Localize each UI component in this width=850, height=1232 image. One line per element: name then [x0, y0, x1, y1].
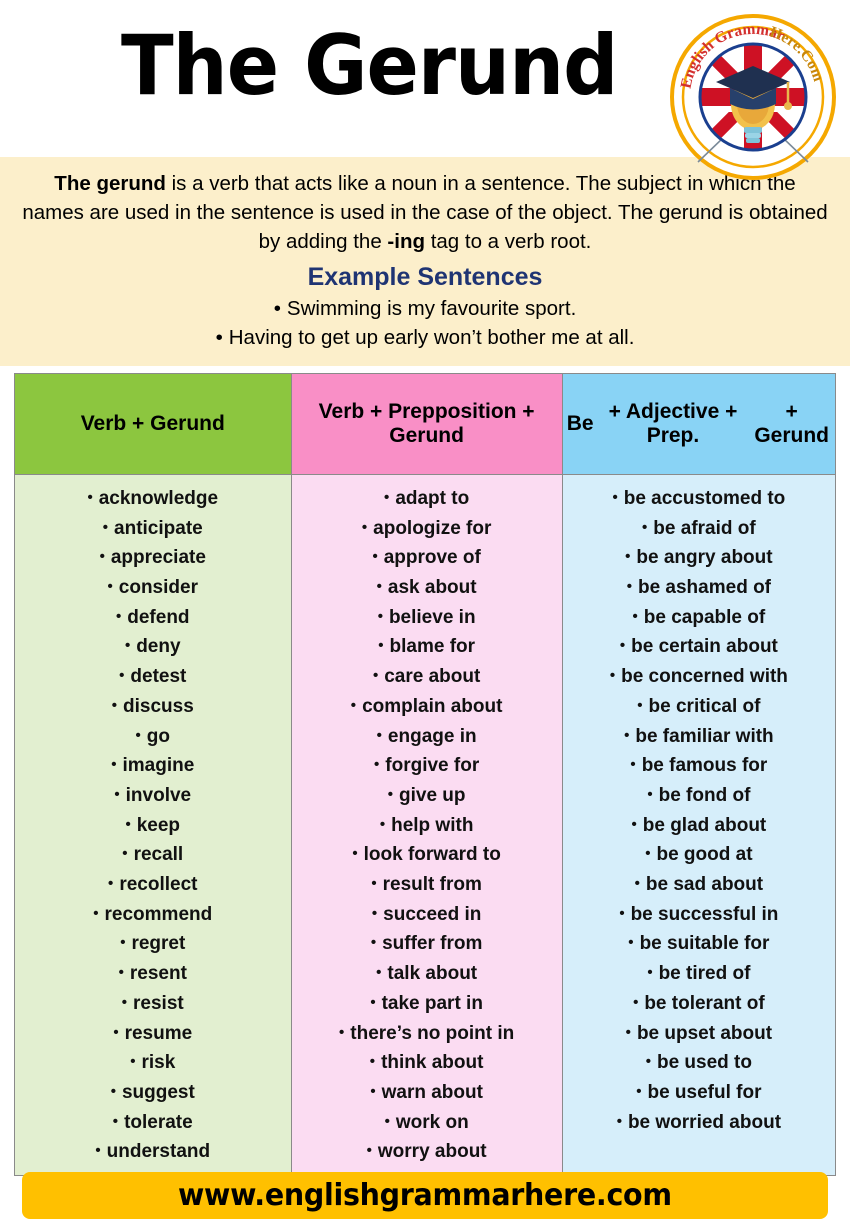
bullet-icon: • [378, 637, 383, 654]
definition-tail: tag to a verb root. [425, 230, 591, 253]
bullet-icon: • [377, 727, 382, 744]
list-item-label: be concerned with [621, 666, 788, 687]
website-footer-bar[interactable]: www.englishgrammarhere.com [22, 1172, 828, 1219]
gerund-table: Verb + Gerund •acknowledge•anticipate•ap… [14, 373, 836, 1176]
bullet-icon: • [633, 608, 638, 625]
list-item: •acknowledge [19, 484, 287, 514]
example-sentence: •Having to get up early won’t bother me … [16, 324, 834, 352]
bullet-icon: • [630, 756, 635, 773]
english-grammar-here-logo: English Grammar Here.Com [668, 12, 838, 182]
bullet-icon: • [384, 489, 389, 506]
list-item-label: be ashamed of [638, 577, 771, 598]
list-item-label: care about [384, 666, 480, 687]
bullet-icon: • [378, 608, 383, 625]
bullet-icon: • [635, 875, 640, 892]
list-item: •be afraid of [567, 514, 831, 544]
list-item: •be tolerant of [567, 989, 831, 1019]
bullet-icon: • [122, 845, 127, 862]
list-item-label: be critical of [649, 696, 761, 717]
table-column-verb-gerund: Verb + Gerund •acknowledge•anticipate•ap… [15, 374, 291, 1175]
list-item-label: warn about [382, 1082, 483, 1103]
bullet-icon: • [385, 1113, 390, 1130]
list-item-label: resent [130, 963, 187, 984]
list-item: •approve of [296, 543, 558, 573]
list-item-label: be tolerant of [644, 993, 764, 1014]
bullet-icon: • [619, 905, 624, 922]
list-item-label: be accustomed to [624, 488, 786, 509]
list-item-label: be tired of [659, 963, 751, 984]
bullet-icon: • [100, 548, 105, 565]
list-item: •understand [19, 1137, 287, 1167]
list-item: •believe in [296, 603, 558, 633]
bullet-icon: • [372, 548, 377, 565]
bullet-icon: • [114, 786, 119, 803]
list-item-label: imagine [122, 755, 194, 776]
bullet-icon: • [612, 489, 617, 506]
list-item: •complain about [296, 692, 558, 722]
bullet-icon: • [370, 1083, 375, 1100]
list-item: •take part in [296, 989, 558, 1019]
list-item: •be successful in [567, 900, 831, 930]
column-body: •acknowledge•anticipate•appreciate•consi… [15, 475, 291, 1175]
list-item-label: suffer from [382, 933, 482, 954]
list-item-label: believe in [389, 607, 476, 628]
list-item-label: discuss [123, 696, 194, 717]
list-item-label: be fond of [659, 785, 751, 806]
list-item: •defend [19, 603, 287, 633]
example-sentence: •Swimming is my favourite sport. [16, 295, 834, 323]
list-item-label: be certain about [631, 636, 778, 657]
list-item-label: blame for [390, 636, 476, 657]
list-item-label: defend [127, 607, 189, 628]
bullet-icon: • [645, 845, 650, 862]
bullet-icon: • [631, 816, 636, 833]
list-item: •adapt to [296, 484, 558, 514]
list-item: •talk about [296, 959, 558, 989]
list-item: •resent [19, 959, 287, 989]
bullet-icon: • [351, 697, 356, 714]
list-item: •there’s no point in [296, 1019, 558, 1049]
list-item-label: be worried about [628, 1112, 781, 1133]
list-item: •be used to [567, 1048, 831, 1078]
list-item: •apologize for [296, 514, 558, 544]
list-item-label: take part in [382, 993, 483, 1014]
bullet-icon: • [373, 667, 378, 684]
bullet-icon: • [119, 667, 124, 684]
examples-heading: Example Sentences [16, 263, 834, 292]
bullet-icon: • [371, 875, 376, 892]
list-item-label: consider [119, 577, 198, 598]
column-header: Verb + Prepposition + Gerund [292, 374, 562, 475]
list-item-label: be familiar with [635, 726, 773, 747]
list-item: •be fond of [567, 781, 831, 811]
bullet-icon: • [87, 489, 92, 506]
list-item: •work on [296, 1108, 558, 1138]
list-item: •help with [296, 811, 558, 841]
list-item: •be upset about [567, 1019, 831, 1049]
bullet-icon: • [637, 697, 642, 714]
list-item: •be accustomed to [567, 484, 831, 514]
list-item: •involve [19, 781, 287, 811]
list-item-label: recollect [119, 874, 197, 895]
list-item-label: resist [133, 993, 184, 1014]
list-item-label: engage in [388, 726, 477, 747]
list-item: •be good at [567, 840, 831, 870]
list-item: •be angry about [567, 543, 831, 573]
list-item-label: apologize for [373, 518, 491, 539]
list-item-label: help with [391, 815, 473, 836]
bullet-icon: • [620, 637, 625, 654]
bullet-icon: • [339, 1024, 344, 1041]
bullet-icon: • [627, 578, 632, 595]
list-item: •be familiar with [567, 722, 831, 752]
list-item: •suffer from [296, 929, 558, 959]
list-item: •be critical of [567, 692, 831, 722]
list-item: •be sad about [567, 870, 831, 900]
column-body: •be accustomed to•be afraid of•be angry … [563, 475, 835, 1175]
bullet-icon: • [380, 816, 385, 833]
list-item: •ask about [296, 573, 558, 603]
column-header-line: Be [567, 412, 594, 436]
list-item: •be useful for [567, 1078, 831, 1108]
bullet-icon: • [352, 845, 357, 862]
bullet-icon: • [93, 905, 98, 922]
ing-suffix: -ing [387, 230, 425, 253]
list-item-label: recall [134, 844, 184, 865]
bullet-icon: • [374, 756, 379, 773]
list-item-label: go [147, 726, 170, 747]
bullet-icon: • [125, 637, 130, 654]
list-item-label: be successful in [631, 904, 779, 925]
list-item-label: be used to [657, 1052, 752, 1073]
list-item-label: be good at [656, 844, 752, 865]
list-item: •be glad about [567, 811, 831, 841]
list-item-label: keep [137, 815, 180, 836]
list-item: •deny [19, 632, 287, 662]
bullet-icon: • [130, 1053, 135, 1070]
list-item: •care about [296, 662, 558, 692]
list-item-label: be useful for [647, 1082, 761, 1103]
page-header: The Gerund [0, 0, 850, 157]
bullet-icon: • [95, 1142, 100, 1159]
list-item-label: there’s no point in [350, 1023, 514, 1044]
bullet-icon: • [617, 1113, 622, 1130]
list-item-label: result from [383, 874, 482, 895]
list-item-label: involve [126, 785, 191, 806]
bullet-icon: • [108, 875, 113, 892]
definition-lead: The gerund [54, 172, 166, 195]
bullet-icon: • [633, 994, 638, 1011]
bullet-icon: • [111, 1083, 116, 1100]
list-item: •detest [19, 662, 287, 692]
list-item-label: talk about [387, 963, 477, 984]
table-column-verb-preposition-gerund: Verb + Prepposition + Gerund •adapt to•a… [291, 374, 563, 1175]
list-item: •be suitable for [567, 929, 831, 959]
bullet-icon: • [647, 786, 652, 803]
list-item-label: be famous for [642, 755, 768, 776]
bullet-icon: • [610, 667, 615, 684]
intro-panel: The gerund is a verb that acts like a no… [0, 157, 850, 366]
list-item-label: forgive for [385, 755, 479, 776]
website-url: www.englishgrammarhere.com [178, 1178, 672, 1213]
list-item: •appreciate [19, 543, 287, 573]
bullet-icon: • [122, 994, 127, 1011]
list-item: •resist [19, 989, 287, 1019]
list-item: •recollect [19, 870, 287, 900]
column-header-line: + Adjective + Prep. [594, 400, 753, 448]
list-item-label: regret [131, 933, 185, 954]
list-item: •think about [296, 1048, 558, 1078]
list-item: •be tired of [567, 959, 831, 989]
list-item: •keep [19, 811, 287, 841]
bullet-icon: • [113, 1113, 118, 1130]
bullet-icon: • [274, 297, 281, 320]
example-sentence-text: Swimming is my favourite sport. [287, 297, 576, 320]
list-item-label: be angry about [636, 547, 772, 568]
list-item: •resume [19, 1019, 287, 1049]
column-body: •adapt to•apologize for•approve of•ask a… [292, 475, 562, 1175]
list-item-label: be sad about [646, 874, 763, 895]
bullet-icon: • [388, 786, 393, 803]
list-item-label: give up [399, 785, 466, 806]
list-item: •succeed in [296, 900, 558, 930]
list-item: •be ashamed of [567, 573, 831, 603]
bullet-icon: • [370, 994, 375, 1011]
list-item-label: recommend [105, 904, 213, 925]
bullet-icon: • [136, 727, 141, 744]
list-item-label: adapt to [395, 488, 469, 509]
list-item: •regret [19, 929, 287, 959]
list-item: •worry about [296, 1137, 558, 1167]
list-item-label: be glad about [643, 815, 767, 836]
list-item: •forgive for [296, 751, 558, 781]
list-item: •be concerned with [567, 662, 831, 692]
bullet-icon: • [626, 1024, 631, 1041]
bullet-icon: • [646, 1053, 651, 1070]
bullet-icon: • [647, 964, 652, 981]
bullet-icon: • [111, 756, 116, 773]
list-item-label: be upset about [637, 1023, 772, 1044]
column-header-line: + Gerund [752, 400, 831, 448]
bullet-icon: • [376, 964, 381, 981]
list-item: •suggest [19, 1078, 287, 1108]
list-item: •consider [19, 573, 287, 603]
bullet-icon: • [362, 519, 367, 536]
list-item: •give up [296, 781, 558, 811]
bullet-icon: • [370, 1053, 375, 1070]
list-item: •look forward to [296, 840, 558, 870]
list-item-label: anticipate [114, 518, 203, 539]
column-header: Be+ Adjective + Prep.+ Gerund [563, 374, 835, 475]
list-item: •be famous for [567, 751, 831, 781]
list-item: •imagine [19, 751, 287, 781]
list-item: •be worried about [567, 1108, 831, 1138]
list-item: •tolerate [19, 1108, 287, 1138]
list-item: •recommend [19, 900, 287, 930]
column-header: Verb + Gerund [15, 374, 291, 475]
bullet-icon: • [642, 519, 647, 536]
list-item: •warn about [296, 1078, 558, 1108]
list-item: •blame for [296, 632, 558, 662]
list-item-label: think about [381, 1052, 483, 1073]
list-item: •be capable of [567, 603, 831, 633]
bullet-icon: • [119, 964, 124, 981]
list-item: •anticipate [19, 514, 287, 544]
bullet-icon: • [628, 934, 633, 951]
bullet-icon: • [372, 905, 377, 922]
bullet-icon: • [636, 1083, 641, 1100]
list-item-label: complain about [362, 696, 502, 717]
list-item: •discuss [19, 692, 287, 722]
list-item-label: be capable of [644, 607, 765, 628]
example-sentence-text: Having to get up early won’t bother me a… [229, 326, 635, 349]
bullet-icon: • [377, 578, 382, 595]
list-item-label: resume [125, 1023, 193, 1044]
bullet-icon: • [625, 548, 630, 565]
bullet-icon: • [113, 1024, 118, 1041]
column-header-line: Verb + Prepposition + Gerund [296, 400, 558, 448]
table-column-be-adjective-prep-gerund: Be+ Adjective + Prep.+ Gerund •be accust… [563, 374, 835, 1175]
list-item-label: detest [130, 666, 186, 687]
list-item: •go [19, 722, 287, 752]
bullet-icon: • [120, 934, 125, 951]
bullet-icon: • [108, 578, 113, 595]
list-item-label: be suitable for [640, 933, 770, 954]
list-item-label: risk [141, 1052, 175, 1073]
list-item: •result from [296, 870, 558, 900]
list-item-label: be afraid of [653, 518, 755, 539]
bullet-icon: • [371, 934, 376, 951]
bullet-icon: • [112, 697, 117, 714]
list-item-label: acknowledge [99, 488, 218, 509]
list-item: •be certain about [567, 632, 831, 662]
list-item-label: succeed in [383, 904, 481, 925]
list-item-label: worry about [378, 1141, 487, 1162]
bullet-icon: • [624, 727, 629, 744]
list-item: •engage in [296, 722, 558, 752]
list-item: •recall [19, 840, 287, 870]
list-item: •risk [19, 1048, 287, 1078]
bullet-icon: • [116, 608, 121, 625]
bullet-icon: • [103, 519, 108, 536]
column-header-line: Verb + Gerund [81, 412, 225, 436]
bullet-icon: • [125, 816, 130, 833]
list-item-label: tolerate [124, 1112, 193, 1133]
definition-paragraph: The gerund is a verb that acts like a no… [22, 169, 828, 256]
list-item-label: appreciate [111, 547, 206, 568]
list-item-label: understand [107, 1141, 210, 1162]
bullet-icon: • [367, 1142, 372, 1159]
bullet-icon: • [216, 326, 223, 349]
list-item-label: deny [136, 636, 180, 657]
list-item-label: look forward to [364, 844, 501, 865]
list-item-label: ask about [388, 577, 477, 598]
list-item-label: approve of [384, 547, 481, 568]
list-item-label: work on [396, 1112, 469, 1133]
list-item-label: suggest [122, 1082, 195, 1103]
